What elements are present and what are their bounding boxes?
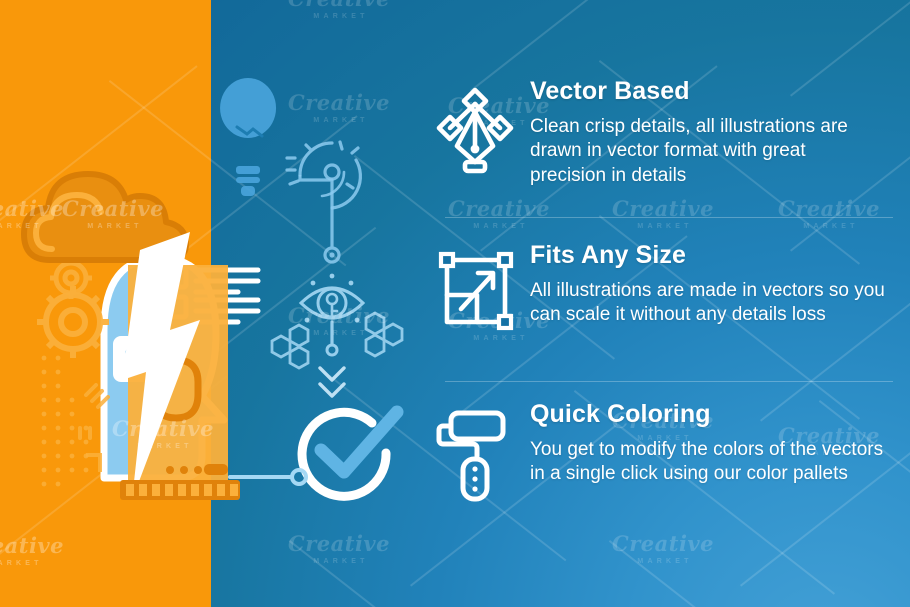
feature-icon-wrap	[420, 78, 530, 176]
chevron-down-icon	[320, 368, 344, 396]
infographic-canvas: Creative MARKET Creative MARKET Creative…	[0, 0, 910, 607]
blue-art-layer	[220, 78, 402, 496]
split-illustration	[0, 0, 420, 607]
gauge-dial-icon	[287, 142, 360, 208]
eye-key-icon	[301, 274, 363, 355]
feature-title: Quick Coloring	[530, 401, 886, 429]
resize-bounding-box-icon	[435, 248, 515, 334]
node-connector-icon	[230, 470, 306, 484]
dotted-grid-icon	[42, 356, 89, 487]
feature-item-quick-coloring: Quick Coloring You get to modify the col…	[420, 401, 910, 503]
pen-tool-icon	[435, 84, 515, 176]
feature-list: Vector Based Clean crisp details, all il…	[420, 0, 910, 607]
feature-icon-wrap	[420, 242, 530, 334]
connector-line	[300, 175, 339, 262]
feature-item-fits-any-size: Fits Any Size All illustrations are made…	[420, 242, 910, 334]
feature-title: Vector Based	[530, 78, 886, 106]
feature-text-wrap: Quick Coloring You get to modify the col…	[530, 401, 910, 487]
lightbulb-icon	[220, 78, 276, 196]
feature-text-wrap: Vector Based Clean crisp details, all il…	[530, 78, 910, 189]
check-circle-icon	[302, 412, 397, 496]
feature-icon-wrap	[420, 401, 530, 503]
feature-item-vector-based: Vector Based Clean crisp details, all il…	[420, 78, 910, 189]
roller-dots-icon	[472, 466, 477, 491]
number-card-icon	[120, 215, 240, 500]
orange-art-layer	[37, 257, 109, 486]
feature-title: Fits Any Size	[530, 242, 886, 270]
paint-roller-icon	[433, 407, 517, 503]
hexagon-cluster-icon	[272, 313, 402, 368]
feature-body: All illustrations are made in vectors so…	[530, 279, 886, 328]
gear-icon-small	[50, 257, 92, 299]
feature-body: You get to modify the colors of the vect…	[530, 438, 886, 487]
dots-row-icon	[166, 466, 202, 474]
feature-body: Clean crisp details, all illustrations a…	[530, 115, 886, 189]
feature-text-wrap: Fits Any Size All illustrations are made…	[530, 242, 910, 328]
